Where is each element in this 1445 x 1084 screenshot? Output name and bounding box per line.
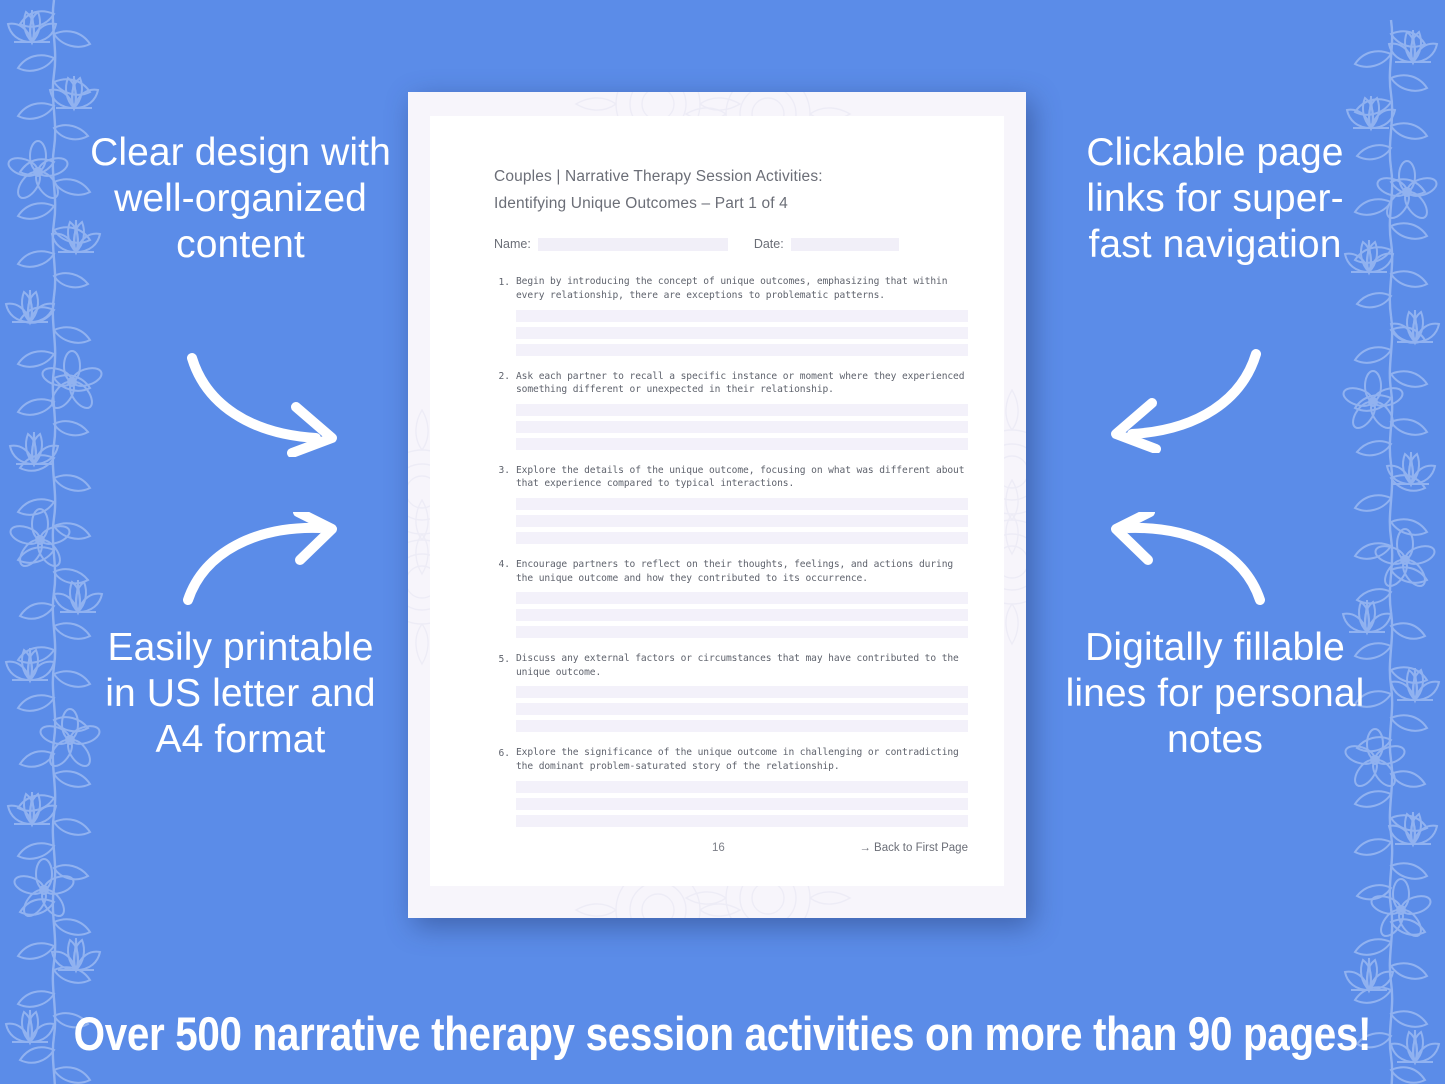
activity-item-text: Ask each partner to recall a specific in… bbox=[516, 370, 968, 397]
fillable-line[interactable] bbox=[516, 515, 968, 527]
activity-item-number: 4. bbox=[494, 558, 510, 585]
name-input[interactable] bbox=[538, 238, 728, 251]
fillable-line[interactable] bbox=[516, 815, 968, 827]
feature-text-bottom-right: Digitally fillable lines for personal no… bbox=[1055, 625, 1375, 763]
feature-text-top-right: Clickable page links for super-fast navi… bbox=[1055, 130, 1375, 268]
document-title-line2: Identifying Unique Outcomes – Part 1 of … bbox=[494, 191, 968, 218]
fillable-line[interactable] bbox=[516, 404, 968, 416]
document-title: Couples | Narrative Therapy Session Acti… bbox=[494, 164, 968, 217]
activity-item-row: 4.Encourage partners to reflect on their… bbox=[494, 558, 968, 585]
activity-item-text: Begin by introducing the concept of uniq… bbox=[516, 275, 968, 302]
feature-text-bottom-left: Easily printable in US letter and A4 for… bbox=[88, 625, 393, 763]
fillable-line[interactable] bbox=[516, 344, 968, 356]
name-date-row: Name: Date: bbox=[494, 237, 968, 251]
document-title-line1: Couples | Narrative Therapy Session Acti… bbox=[494, 164, 968, 191]
fillable-line[interactable] bbox=[516, 609, 968, 621]
activity-item-number: 6. bbox=[494, 746, 510, 773]
banner-text: Over 500 narrative therapy session activ… bbox=[74, 1006, 1372, 1061]
activity-item-text: Explore the details of the unique outcom… bbox=[516, 464, 968, 491]
feature-text-top-left: Clear design with well-organized content bbox=[88, 130, 393, 268]
fillable-line[interactable] bbox=[516, 592, 968, 604]
fillable-line[interactable] bbox=[516, 327, 968, 339]
document-frame: Couples | Narrative Therapy Session Acti… bbox=[408, 92, 1026, 918]
document-page: Couples | Narrative Therapy Session Acti… bbox=[430, 116, 1004, 886]
activity-item: 3.Explore the details of the unique outc… bbox=[494, 464, 968, 544]
fillable-line[interactable] bbox=[516, 781, 968, 793]
fillable-line[interactable] bbox=[516, 498, 968, 510]
fillable-line[interactable] bbox=[516, 798, 968, 810]
activity-item-number: 2. bbox=[494, 370, 510, 397]
name-label: Name: bbox=[494, 237, 531, 251]
fillable-lines bbox=[516, 498, 968, 544]
activity-item-row: 5.Discuss any external factors or circum… bbox=[494, 652, 968, 679]
activity-item-row: 6.Explore the significance of the unique… bbox=[494, 746, 968, 773]
document-preview[interactable]: Couples | Narrative Therapy Session Acti… bbox=[408, 92, 1026, 918]
fillable-line[interactable] bbox=[516, 532, 968, 544]
activity-item-text: Explore the significance of the unique o… bbox=[516, 746, 968, 773]
page-number: 16 bbox=[712, 842, 725, 854]
fillable-line[interactable] bbox=[516, 421, 968, 433]
fillable-line[interactable] bbox=[516, 686, 968, 698]
activity-item: 1.Begin by introducing the concept of un… bbox=[494, 275, 968, 355]
activity-item: 5.Discuss any external factors or circum… bbox=[494, 652, 968, 732]
curved-arrow-icon-bottom-right bbox=[1098, 512, 1268, 612]
activity-list: 1.Begin by introducing the concept of un… bbox=[494, 275, 968, 826]
activity-item-number: 5. bbox=[494, 652, 510, 679]
document-footer: 16 → Back to First Page bbox=[494, 842, 968, 854]
activity-item-row: 1.Begin by introducing the concept of un… bbox=[494, 275, 968, 302]
activity-item-row: 3.Explore the details of the unique outc… bbox=[494, 464, 968, 491]
fillable-line[interactable] bbox=[516, 626, 968, 638]
activity-item: 4.Encourage partners to reflect on their… bbox=[494, 558, 968, 638]
activity-item: 2.Ask each partner to recall a specific … bbox=[494, 370, 968, 450]
fillable-line[interactable] bbox=[516, 438, 968, 450]
activity-item: 6.Explore the significance of the unique… bbox=[494, 746, 968, 826]
fillable-line[interactable] bbox=[516, 720, 968, 732]
activity-item-text: Encourage partners to reflect on their t… bbox=[516, 558, 968, 585]
back-to-first-page-link[interactable]: → Back to First Page bbox=[859, 842, 968, 854]
curved-arrow-icon-top-right bbox=[1098, 348, 1268, 458]
fillable-lines bbox=[516, 781, 968, 827]
fillable-lines bbox=[516, 592, 968, 638]
date-input[interactable] bbox=[791, 238, 899, 251]
activity-item-number: 1. bbox=[494, 275, 510, 302]
fillable-lines bbox=[516, 686, 968, 732]
fillable-lines bbox=[516, 310, 968, 356]
curved-arrow-icon-bottom-left bbox=[180, 512, 350, 612]
fillable-lines bbox=[516, 404, 968, 450]
date-label: Date: bbox=[754, 237, 784, 251]
activity-item-row: 2.Ask each partner to recall a specific … bbox=[494, 370, 968, 397]
bottom-banner: Over 500 narrative therapy session activ… bbox=[0, 982, 1445, 1084]
activity-item-number: 3. bbox=[494, 464, 510, 491]
curved-arrow-icon-top-left bbox=[180, 352, 350, 462]
activity-item-text: Discuss any external factors or circumst… bbox=[516, 652, 968, 679]
fillable-line[interactable] bbox=[516, 703, 968, 715]
fillable-line[interactable] bbox=[516, 310, 968, 322]
